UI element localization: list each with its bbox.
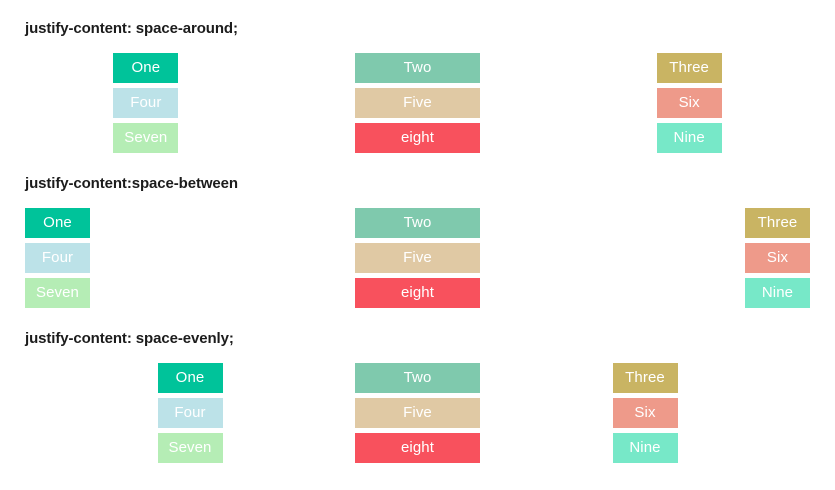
flex-item-column-1: One Four Seven <box>113 53 178 153</box>
section-heading-space-evenly: justify-content: space-evenly; <box>0 330 835 348</box>
box-one: One <box>113 53 178 83</box>
box-four: Four <box>113 88 178 118</box>
box-nine: Nine <box>745 278 810 308</box>
box-four: Four <box>25 243 90 273</box>
box-eight: eight <box>355 123 480 153</box>
flex-container-space-between: One Four Seven Two Five eight Three Six … <box>25 208 810 308</box>
section-space-around: justify-content: space-around; One Four … <box>0 0 835 153</box>
box-three: Three <box>745 208 810 238</box>
flex-item-column-2: Two Five eight <box>355 363 480 463</box>
box-eight: eight <box>355 278 480 308</box>
flex-container-space-evenly: One Four Seven Two Five eight Three Six … <box>25 363 810 463</box>
flex-item-column-3: Three Six Nine <box>613 363 678 463</box>
section-heading-space-between: justify-content:space-between <box>0 175 835 193</box>
box-six: Six <box>745 243 810 273</box>
box-four: Four <box>158 398 223 428</box>
box-two: Two <box>355 363 480 393</box>
box-seven: Seven <box>25 278 90 308</box>
flex-item-column-1: One Four Seven <box>25 208 90 308</box>
box-six: Six <box>613 398 678 428</box>
box-seven: Seven <box>158 433 223 463</box>
section-heading-space-around: justify-content: space-around; <box>0 20 835 38</box>
box-two: Two <box>355 208 480 238</box>
box-one: One <box>158 363 223 393</box>
flex-item-column-2: Two Five eight <box>355 53 480 153</box>
box-seven: Seven <box>113 123 178 153</box>
flex-item-column-3: Three Six Nine <box>657 53 722 153</box>
box-five: Five <box>355 88 480 118</box>
flex-item-column-3: Three Six Nine <box>745 208 810 308</box>
flex-item-column-2: Two Five eight <box>355 208 480 308</box>
box-nine: Nine <box>613 433 678 463</box>
box-six: Six <box>657 88 722 118</box>
box-two: Two <box>355 53 480 83</box>
box-three: Three <box>613 363 678 393</box>
flex-item-column-1: One Four Seven <box>158 363 223 463</box>
section-space-between: justify-content:space-between One Four S… <box>0 153 835 308</box>
box-three: Three <box>657 53 722 83</box>
box-nine: Nine <box>657 123 722 153</box>
flex-container-space-around: One Four Seven Two Five eight Three Six … <box>25 53 810 153</box>
box-one: One <box>25 208 90 238</box>
section-space-evenly: justify-content: space-evenly; One Four … <box>0 308 835 463</box>
flexbox-demo-page: justify-content: space-around; One Four … <box>0 0 835 490</box>
box-eight: eight <box>355 433 480 463</box>
box-five: Five <box>355 243 480 273</box>
box-five: Five <box>355 398 480 428</box>
